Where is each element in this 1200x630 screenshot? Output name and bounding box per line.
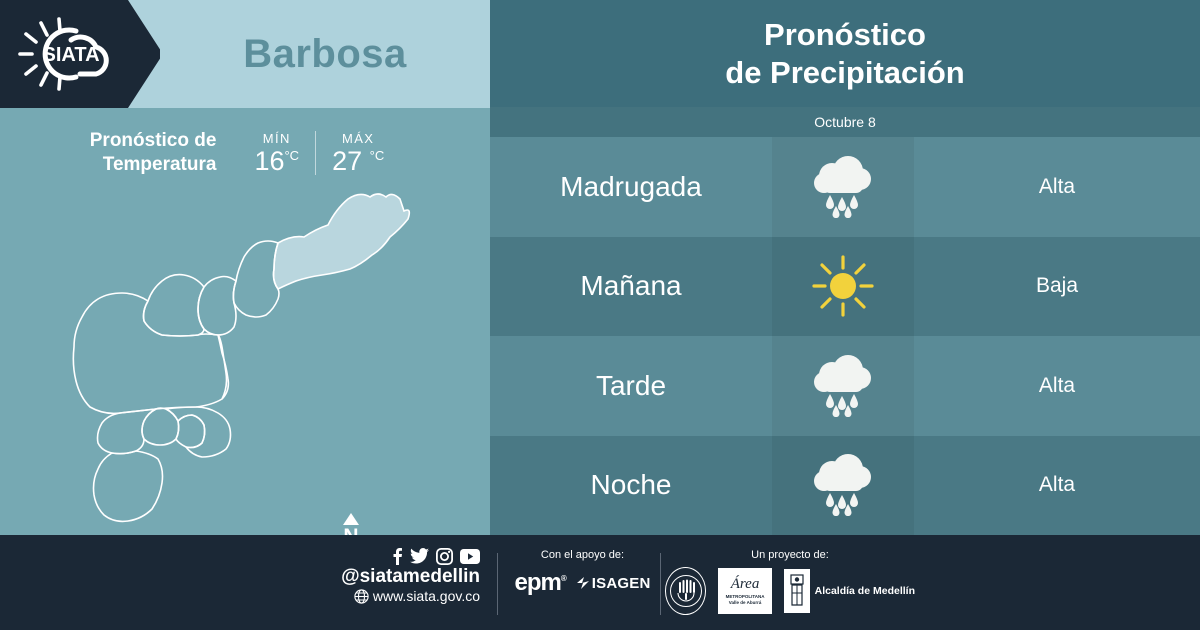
north-arrow-icon	[343, 513, 359, 525]
period-cell: Mañana	[490, 237, 772, 337]
period-cell: Madrugada	[490, 137, 772, 237]
facebook-icon[interactable]	[392, 547, 403, 565]
left-header-bar: SIATA Barbosa	[0, 0, 490, 108]
alcaldia-logo[interactable]: Alcaldía de Medellín	[784, 569, 915, 613]
temperature-panel: SIATA Barbosa Pronóstico de Temperatura …	[0, 0, 490, 535]
city-name: Barbosa	[160, 0, 490, 108]
level-label: Alta	[1039, 374, 1075, 398]
epm-logo[interactable]: epm®	[515, 571, 566, 595]
website-url: www.siata.gov.co	[373, 588, 480, 605]
social-block: @siatamedellin www.siata.gov.co	[330, 547, 480, 605]
social-handle[interactable]: @siatamedellin	[330, 566, 480, 588]
rain-cloud-icon	[808, 454, 878, 516]
siata-logo-badge[interactable]: SIATA	[0, 0, 160, 108]
period-label: Noche	[591, 469, 672, 501]
level-cell: Alta	[914, 137, 1200, 237]
period-cell: Tarde	[490, 336, 772, 436]
project-title: Un proyecto de:	[665, 549, 915, 561]
temperature-title-line1: Pronóstico de	[90, 129, 217, 153]
twitter-icon[interactable]	[410, 547, 429, 565]
forecast-date-band: Octubre 8	[490, 107, 1200, 137]
area-name: Área	[731, 577, 760, 592]
temperature-min-label: MÍN	[263, 131, 291, 146]
alcaldia-figure-icon	[788, 573, 806, 609]
period-label: Mañana	[580, 270, 681, 302]
area-metropolitana-logo[interactable]: Área METROPOLITANA Valle de Aburrá	[718, 568, 771, 614]
temperature-min-number: 16	[254, 146, 284, 176]
isagen-label: ISAGEN	[592, 575, 651, 592]
project-logos: Área METROPOLITANA Valle de Aburrá	[665, 567, 915, 615]
map-region-copacabana	[198, 277, 236, 336]
footer-divider-1	[497, 553, 498, 615]
icon-cell	[772, 237, 914, 337]
forecast-date: Octubre 8	[814, 114, 875, 130]
aburra-valley-map[interactable]: N	[60, 185, 440, 530]
period-label: Tarde	[596, 370, 666, 402]
alcaldia-label: Alcaldía de Medellín	[815, 585, 915, 597]
period-label: Madrugada	[560, 171, 702, 203]
map-region-girardota	[233, 241, 279, 317]
level-label: Alta	[1039, 473, 1075, 497]
map-region-eastern-border	[218, 335, 227, 399]
globe-icon	[354, 589, 369, 604]
footer-divider-2	[660, 553, 661, 615]
temperature-max-value: 27 °C	[332, 148, 384, 175]
temperature-min: MÍN 16°C	[238, 131, 315, 175]
instagram-icon[interactable]	[436, 548, 453, 565]
support-logos: epm® ISAGEN	[505, 571, 660, 595]
temperature-max-number: 27	[332, 146, 362, 176]
temperature-max-unit: °C	[370, 148, 385, 163]
area-sub-line1: METROPOLITANA	[726, 594, 765, 600]
icon-cell	[772, 137, 914, 237]
forecast-row-tarde[interactable]: Tarde	[490, 336, 1200, 436]
level-cell: Alta	[914, 436, 1200, 536]
level-cell: Baja	[914, 237, 1200, 337]
footer: @siatamedellin www.siata.gov.co Con el a…	[0, 535, 1200, 630]
udea-seal-logo[interactable]	[665, 567, 706, 615]
udea-hand-icon	[669, 574, 703, 608]
temperature-max-label: MÁX	[342, 131, 374, 146]
forecast-row-manana[interactable]: Mañana	[490, 237, 1200, 337]
sun-icon	[809, 253, 877, 319]
level-cell: Alta	[914, 336, 1200, 436]
map-region-barbosa	[274, 194, 410, 289]
rain-cloud-icon	[808, 156, 878, 218]
alcaldia-mark-icon	[784, 569, 810, 613]
map-region-caldas	[94, 451, 163, 521]
rain-cloud-icon	[808, 355, 878, 417]
project-block: Un proyecto de:	[665, 549, 915, 615]
forecast-rows: Madrugada	[490, 137, 1200, 535]
map-region-medellin	[73, 293, 228, 413]
isagen-mark-icon	[576, 576, 590, 590]
temperature-max: MÁX 27 °C	[315, 131, 400, 175]
level-label: Alta	[1039, 175, 1075, 199]
temperature-title: Pronóstico de Temperatura	[90, 129, 217, 177]
precipitation-title-line2: de Precipitación	[725, 54, 964, 91]
map-region-la-estrella	[98, 409, 157, 454]
forecast-row-madrugada[interactable]: Madrugada	[490, 137, 1200, 237]
forecast-row-noche[interactable]: Noche	[490, 436, 1200, 536]
website-line[interactable]: www.siata.gov.co	[330, 588, 480, 605]
icon-cell	[772, 436, 914, 536]
period-cell: Noche	[490, 436, 772, 536]
area-sub-line2: Valle de Aburrá	[726, 600, 765, 606]
precipitation-panel: Pronóstico de Precipitación Octubre 8 Ma…	[490, 0, 1200, 535]
epm-label: epm	[515, 569, 561, 596]
youtube-icon[interactable]	[460, 549, 480, 564]
icon-cell	[772, 336, 914, 436]
temperature-min-value: 16°C	[254, 148, 299, 175]
level-label: Baja	[1036, 274, 1078, 298]
temperature-min-unit: °C	[284, 148, 299, 163]
weather-forecast-poster: SIATA Barbosa Pronóstico de Temperatura …	[0, 0, 1200, 630]
map-svg	[60, 185, 440, 530]
social-icons	[330, 547, 480, 565]
precipitation-title-line1: Pronóstico	[725, 16, 964, 53]
sun-cloud-icon: SIATA	[14, 14, 134, 94]
map-region-envigado	[166, 407, 231, 457]
temperature-values: MÍN 16°C MÁX 27 °C	[238, 131, 400, 175]
isagen-logo[interactable]: ISAGEN	[576, 575, 651, 592]
precipitation-header: Pronóstico de Precipitación	[490, 0, 1200, 107]
svg-text:SIATA: SIATA	[42, 44, 99, 66]
precipitation-title: Pronóstico de Precipitación	[725, 16, 964, 90]
area-subtitle: METROPOLITANA Valle de Aburrá	[726, 594, 765, 605]
temperature-title-line2: Temperatura	[90, 153, 217, 177]
map-region-bello	[144, 275, 205, 336]
support-title: Con el apoyo de:	[505, 549, 660, 561]
support-block: Con el apoyo de: epm® ISAGEN	[505, 549, 660, 595]
